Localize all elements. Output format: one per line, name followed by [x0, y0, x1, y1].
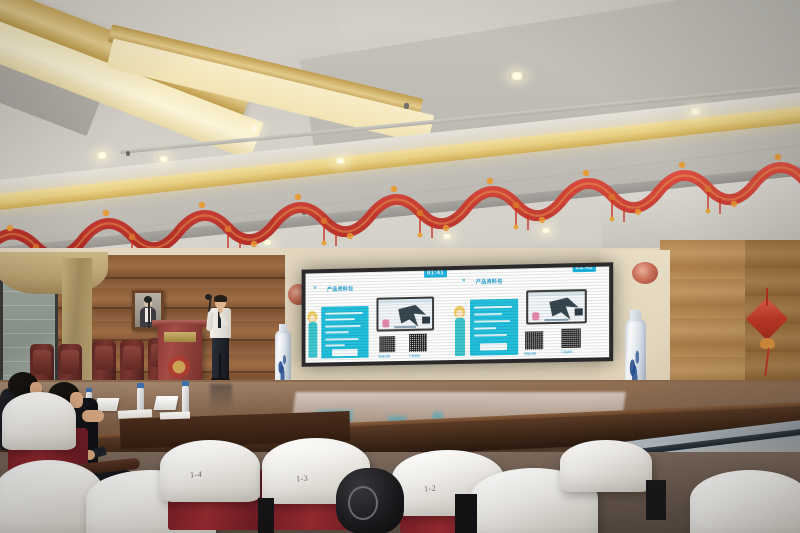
tablet-screen	[528, 291, 585, 322]
microphone-stand	[148, 300, 150, 328]
presenter-leg-split	[219, 353, 221, 379]
microphone-icon	[144, 296, 152, 303]
stage-chair	[92, 340, 116, 384]
seat-gap-shadow	[455, 494, 477, 533]
audience-person-arm	[82, 410, 104, 422]
garland-svg	[0, 70, 800, 260]
water-bottle	[182, 386, 189, 412]
bag-strap	[348, 486, 378, 520]
chair-cover[interactable]	[160, 440, 260, 502]
chevron-right-icon: »	[313, 285, 315, 291]
qr-code[interactable]	[560, 327, 581, 349]
seat-label: 1-4	[190, 470, 203, 480]
porcelain-vase-neck	[630, 310, 641, 321]
led-panel-right-heading: 产品资料包	[476, 278, 503, 286]
qr-code-caption: 下载资料	[560, 350, 572, 354]
chair-cover[interactable]	[690, 470, 800, 533]
led-card-button[interactable]	[332, 349, 358, 356]
bottle-cap	[137, 383, 144, 388]
name-card	[154, 396, 179, 410]
countdown-timer-badge: 01:41	[424, 269, 447, 278]
avatar	[452, 306, 467, 358]
led-info-card	[470, 299, 518, 356]
led-screen-surface: » 产品资料包	[306, 266, 610, 362]
seat-label: 1-3	[296, 474, 309, 484]
bottle-cap	[86, 388, 92, 392]
presenter	[206, 297, 236, 383]
paper-cut-medallion-icon	[632, 262, 658, 284]
conference-hall-photo: » 产品资料包	[0, 0, 800, 533]
tablet-screen	[378, 299, 432, 330]
chinese-knot-cord	[766, 288, 768, 306]
avatar	[306, 311, 320, 361]
countdown-timer-badge: 01:41	[573, 266, 596, 272]
led-card-button[interactable]	[480, 343, 507, 351]
tablet-device-mockup	[376, 296, 434, 331]
led-info-card	[321, 306, 368, 359]
led-panel-left-heading: 产品资料包	[327, 285, 353, 293]
porcelain-vase-neck	[279, 324, 287, 333]
qr-code[interactable]	[378, 335, 396, 353]
qr-code-caption: 微信扫码	[378, 354, 390, 358]
stage-chair	[120, 340, 144, 384]
podium-plaque	[164, 332, 196, 342]
presenter-floor-reflection	[210, 384, 232, 410]
seat-gap-shadow	[646, 480, 666, 520]
chair-cover[interactable]	[560, 440, 652, 492]
chevron-right-icon: »	[462, 278, 464, 284]
chair-cover[interactable]	[2, 392, 76, 450]
qr-code[interactable]	[408, 333, 428, 353]
presenter-hair	[214, 295, 227, 302]
led-panel-right: » 产品资料包	[456, 266, 609, 360]
tablet-device-mockup	[526, 289, 587, 324]
document-paper	[160, 411, 190, 419]
bottle-cap	[182, 381, 189, 386]
podium-emblem-icon	[168, 356, 190, 378]
qr-code-caption: 下载资料	[408, 354, 420, 358]
led-video-wall: » 产品资料包	[302, 262, 614, 367]
seat-gap-shadow	[258, 498, 274, 533]
qr-code-caption: 微信扫码	[524, 351, 536, 355]
seat-label: 1-2	[424, 484, 437, 494]
led-panel-left: » 产品资料包	[306, 270, 456, 363]
red-garland-decoration	[0, 70, 800, 260]
qr-code[interactable]	[524, 330, 544, 350]
